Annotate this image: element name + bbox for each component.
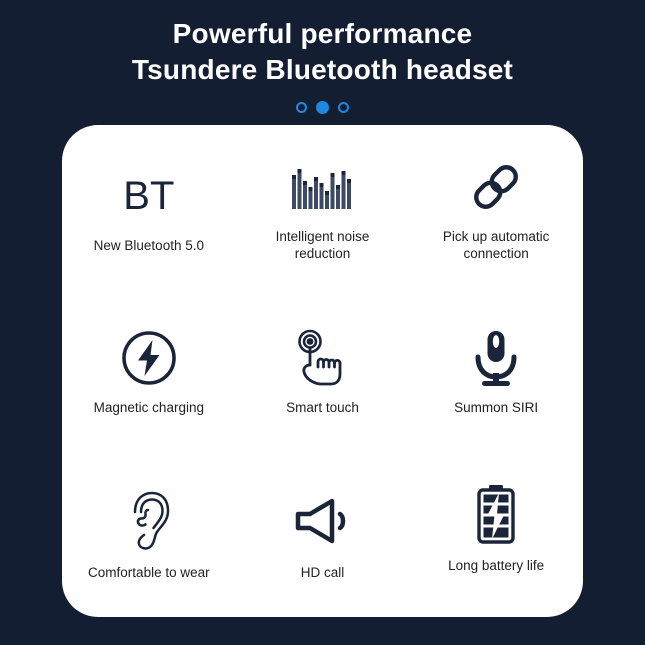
feature-item-noise-reduction[interactable]: Intelligent noise reduction <box>236 125 410 289</box>
speaker-volume-icon <box>294 490 350 552</box>
feature-label: Long battery life <box>448 557 544 574</box>
feature-item-auto-connection[interactable]: Pick up automatic connection <box>409 125 583 289</box>
carousel-dot-1[interactable] <box>296 102 307 113</box>
chain-link-icon <box>468 156 524 218</box>
lightning-bolt-circle-icon <box>120 327 178 389</box>
carousel-dot-3[interactable] <box>338 102 349 113</box>
battery-charging-icon <box>473 483 519 545</box>
feature-label: Magnetic charging <box>94 399 204 416</box>
feature-label: HD call <box>301 564 345 581</box>
bt-text-icon: BT <box>123 165 174 227</box>
feature-item-hd-call[interactable]: HD call <box>236 453 410 617</box>
feature-label: Summon SIRI <box>454 399 538 416</box>
feature-item-magnetic-charging[interactable]: Magnetic charging <box>62 289 236 453</box>
feature-item-new-bluetooth[interactable]: BT New Bluetooth 5.0 <box>62 125 236 289</box>
features-card: BT New Bluetooth 5.0 <box>62 125 583 617</box>
microphone-icon <box>470 327 522 389</box>
features-grid: BT New Bluetooth 5.0 <box>62 125 583 617</box>
feature-item-comfortable-to-wear[interactable]: Comfortable to wear <box>62 453 236 617</box>
feature-item-smart-touch[interactable]: Smart touch <box>236 289 410 453</box>
hand-tap-icon <box>293 327 351 389</box>
feature-label: Smart touch <box>286 399 359 416</box>
feature-item-summon-siri[interactable]: Summon SIRI <box>409 289 583 453</box>
equalizer-bars-icon <box>291 156 353 218</box>
carousel-dot-2-active[interactable] <box>316 101 329 114</box>
feature-label: Intelligent noise reduction <box>252 228 392 262</box>
bt-text-icon-label: BT <box>123 174 174 218</box>
ear-icon <box>123 490 175 552</box>
feature-label: Pick up automatic connection <box>426 228 566 262</box>
feature-item-long-battery-life[interactable]: Long battery life <box>409 453 583 617</box>
feature-label: New Bluetooth 5.0 <box>94 237 204 254</box>
carousel-dots <box>0 100 645 114</box>
header: Powerful performance Tsundere Bluetooth … <box>0 0 645 114</box>
page-title-line-2: Tsundere Bluetooth headset <box>0 52 645 88</box>
page-title-line-1: Powerful performance <box>0 16 645 52</box>
feature-label: Comfortable to wear <box>88 564 210 581</box>
